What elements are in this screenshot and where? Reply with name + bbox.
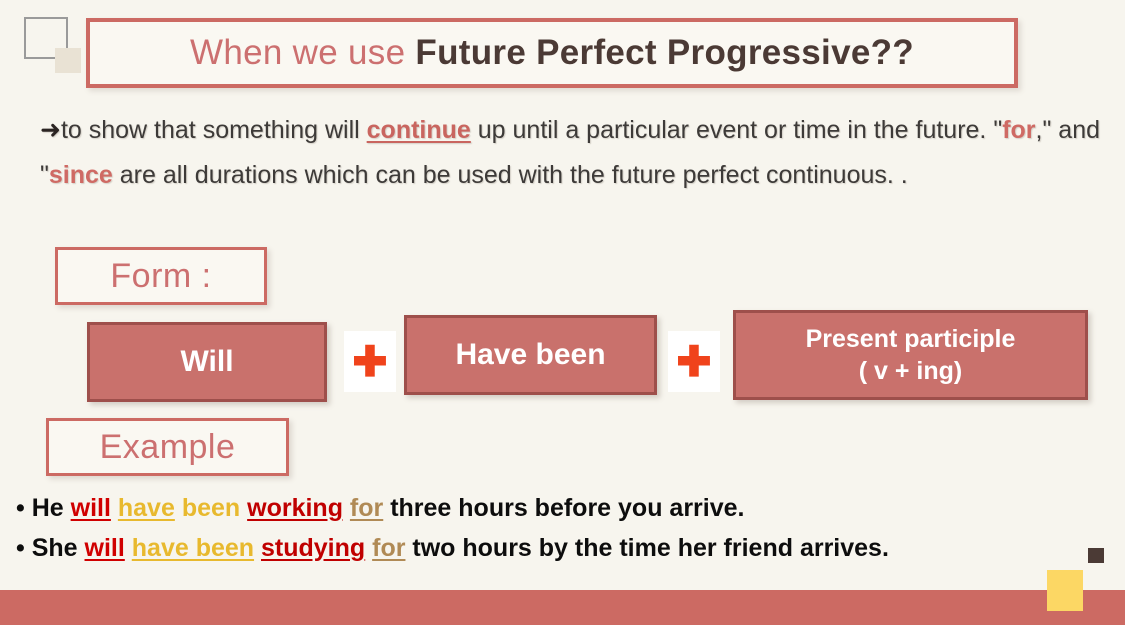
- example-1-have: have: [118, 494, 175, 522]
- example-sentence-1: • He will have been working for three ho…: [16, 494, 744, 523]
- formula-box-have-been-label: Have been: [455, 338, 605, 372]
- keyword-since: since: [49, 161, 113, 189]
- example-1-verb: working: [247, 494, 343, 522]
- plus-icon-2: ✚: [668, 331, 720, 392]
- example-sentence-2: • She will have been studying for two ho…: [16, 534, 889, 563]
- plus-icon-1: ✚: [344, 331, 396, 392]
- example-2-verb: studying: [261, 534, 365, 562]
- example-2-have-been: have been: [132, 534, 254, 562]
- formula-box-will: Will: [87, 322, 327, 402]
- formula-box-participle-line1: Present participle: [806, 323, 1016, 355]
- example-2-for: for: [372, 534, 405, 562]
- intro-paragraph: ➜to show that something will continue up…: [40, 108, 1100, 198]
- plus-symbol-2: ✚: [676, 341, 711, 383]
- formula-box-have-been: Have been: [404, 315, 657, 395]
- bullet-icon-2: •: [16, 534, 25, 562]
- decor-square-yellow-bottomright: [1047, 570, 1083, 611]
- bottom-accent-bar: [0, 590, 1125, 625]
- example-1-rest: three hours before you arrive.: [390, 494, 744, 522]
- intro-segment-2: up until a particular event or time in t…: [471, 116, 1002, 144]
- form-label: Form :: [110, 257, 211, 296]
- decor-square-tan-topleft: [55, 48, 81, 73]
- formula-box-will-label: Will: [180, 345, 233, 379]
- title-suffix: ??: [871, 33, 914, 72]
- bullet-icon-1: •: [16, 494, 25, 522]
- slide-title-box: When we use Future Perfect Progressive??: [86, 18, 1018, 88]
- keyword-continue: continue: [367, 116, 471, 144]
- example-label-box: Example: [46, 418, 289, 476]
- formula-box-present-participle: Present participle ( v + ing): [733, 310, 1088, 400]
- intro-segment-4: are all durations which can be used with…: [113, 161, 908, 189]
- example-1-subject: He: [32, 494, 71, 522]
- example-1-for: for: [350, 494, 383, 522]
- form-label-box: Form :: [55, 247, 267, 305]
- formula-box-participle-line2: ( v + ing): [859, 355, 962, 387]
- plus-symbol-1: ✚: [352, 341, 387, 383]
- keyword-for: for: [1002, 116, 1035, 144]
- title-bold-part: Future Perfect Progressive: [415, 33, 870, 72]
- decor-square-dark-bottomright: [1088, 548, 1104, 563]
- title-light-part: When we use: [190, 33, 405, 72]
- example-2-subject: She: [32, 534, 85, 562]
- example-1-been: been: [182, 494, 240, 522]
- page-title: When we use Future Perfect Progressive??: [190, 33, 914, 73]
- example-2-will: will: [85, 534, 125, 562]
- intro-segment-1: to show that something will: [61, 116, 367, 144]
- example-2-rest: two hours by the time her friend arrives…: [412, 534, 889, 562]
- example-label: Example: [100, 428, 236, 467]
- arrow-right-icon: ➜: [40, 116, 61, 144]
- example-1-will: will: [71, 494, 111, 522]
